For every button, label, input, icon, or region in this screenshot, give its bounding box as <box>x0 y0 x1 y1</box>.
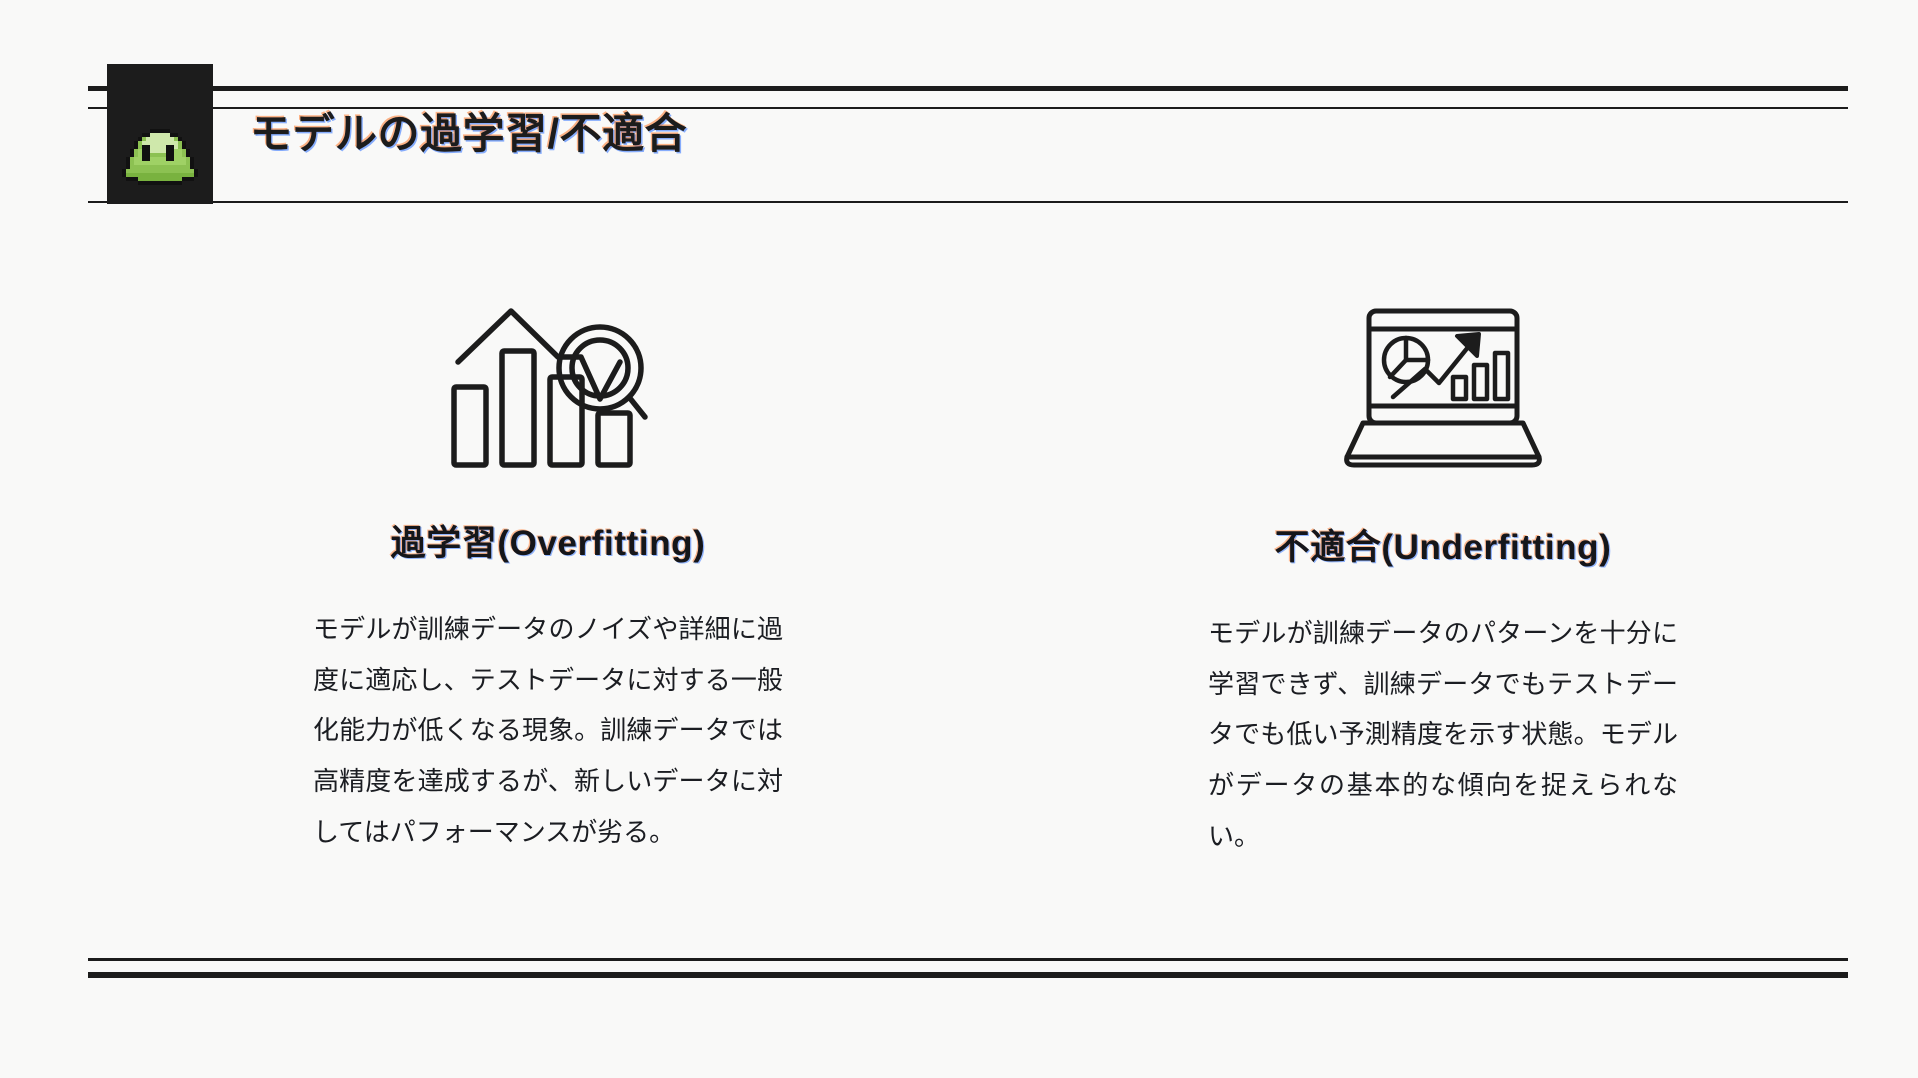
page-title: モデルの過学習/不適合 <box>250 108 687 161</box>
logo-block <box>107 64 213 204</box>
card-title-overfitting: 過学習(Overfitting) <box>391 515 706 566</box>
card-body-underfitting: モデルが訓練データのパターンを十分に学習できず、訓練データでもテストデータでも低… <box>1208 608 1678 861</box>
header-rule-bottom <box>88 201 1848 203</box>
bar-chart-magnifier-icon <box>448 300 648 475</box>
cards-container: 過学習(Overfitting) モデルが訓練データのノイズや詳細に過度に適応し… <box>88 300 1848 861</box>
card-title-underfitting: 不適合(Underfitting) <box>1275 519 1612 570</box>
header-rule-thick-top <box>88 86 1848 91</box>
footer-rule-thick <box>88 972 1848 978</box>
card-underfitting: 不適合(Underfitting) モデルが訓練データのパターンを十分に学習でき… <box>968 300 1848 861</box>
pixel-slime-icon <box>122 128 198 190</box>
card-overfitting: 過学習(Overfitting) モデルが訓練データのノイズや詳細に過度に適応し… <box>88 300 968 861</box>
slide-header: モデルの過学習/不適合 <box>0 0 1918 250</box>
footer-rule-thin <box>88 958 1848 961</box>
card-body-overfitting: モデルが訓練データのノイズや詳細に過度に適応し、テストデータに対する一般化能力が… <box>313 604 783 857</box>
laptop-analytics-icon <box>1343 300 1543 475</box>
slide-root: モデルの過学習/不適合 過学習(Over <box>0 0 1918 1078</box>
